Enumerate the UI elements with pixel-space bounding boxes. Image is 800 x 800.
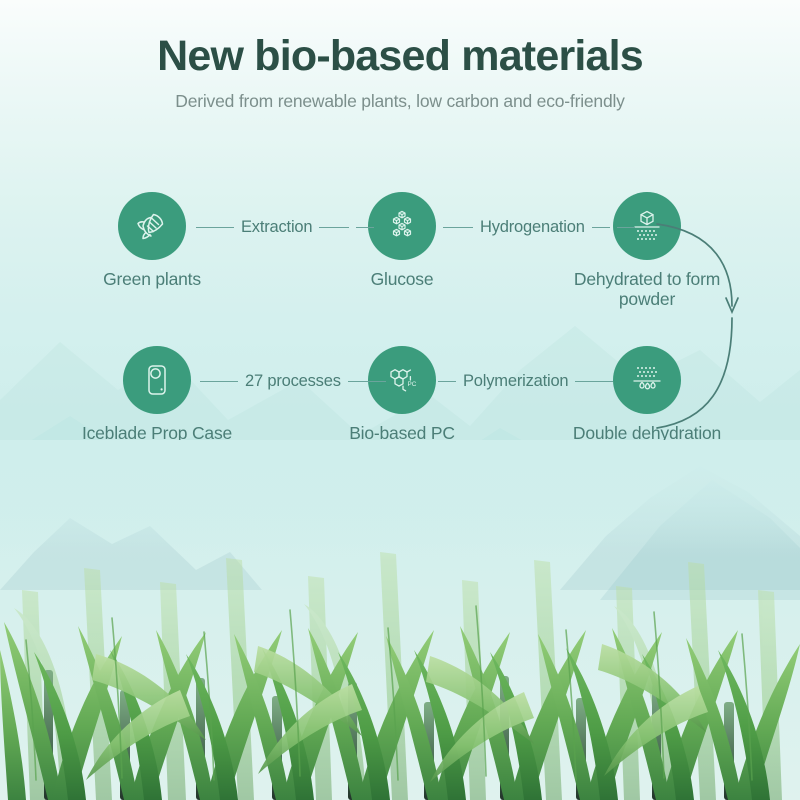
flow-node-iceblade-case[interactable]: Iceblade Prop Case (72, 346, 242, 443)
pc-badge-text: PC (408, 381, 417, 388)
flow-node-green-plants[interactable]: Green plants (67, 192, 237, 289)
flow-node-label: Green plants (67, 269, 237, 289)
connector-line-right (348, 381, 386, 382)
pc-molecule-icon: PC (382, 360, 422, 400)
flow-node-bio-based-pc[interactable]: PC Bio-based PC (317, 346, 487, 443)
connector-line-right (592, 227, 610, 228)
connector-line-left (200, 381, 238, 382)
page-subtitle: Derived from renewable plants, low carbo… (0, 91, 800, 112)
connector-hydrogenation: Hydrogenation (443, 218, 635, 237)
connector-extraction: Extraction (196, 218, 374, 237)
connector-label: Polymerization (463, 372, 568, 391)
connector-line-tip (356, 227, 374, 228)
poster: New bio-based materials Derived from ren… (0, 0, 800, 800)
connector-label: Hydrogenation (480, 218, 585, 237)
connector-label: Extraction (241, 218, 312, 237)
header: New bio-based materials Derived from ren… (0, 0, 800, 112)
connector-line-right (319, 227, 349, 228)
flow-node-glucose[interactable]: Glucose (317, 192, 487, 289)
process-flow-diagram: Green plants (0, 178, 800, 468)
connector-line-tip (617, 227, 635, 228)
droplets-powder-icon (627, 360, 667, 400)
connector-line-left (196, 227, 234, 228)
connector-line-right (575, 381, 613, 382)
connector-line-left (438, 381, 456, 382)
connector-label: 27 processes (245, 372, 341, 391)
connector-27-processes: 27 processes (200, 372, 386, 391)
double-dehydration-icon-badge (613, 346, 681, 414)
glucose-icon-badge (368, 192, 436, 260)
connector-polymerization: Polymerization (438, 372, 613, 391)
flow-node-label: Dehydrated to form powder (562, 269, 732, 309)
iceblade-case-icon-badge (123, 346, 191, 414)
page-title: New bio-based materials (0, 33, 800, 79)
flow-node-dehydrated-powder[interactable]: Dehydrated to form powder (562, 192, 732, 309)
sugarcane-illustration (0, 440, 800, 800)
sugar-cubes-icon (383, 207, 421, 245)
green-plants-icon-badge (118, 192, 186, 260)
flow-node-double-dehydration[interactable]: Double dehydration (562, 346, 732, 443)
sugarcane-field-photo (0, 440, 800, 800)
corn-cob-icon (133, 207, 171, 245)
phone-case-icon (138, 361, 176, 399)
connector-line-left (443, 227, 473, 228)
flow-node-label: Glucose (317, 269, 487, 289)
